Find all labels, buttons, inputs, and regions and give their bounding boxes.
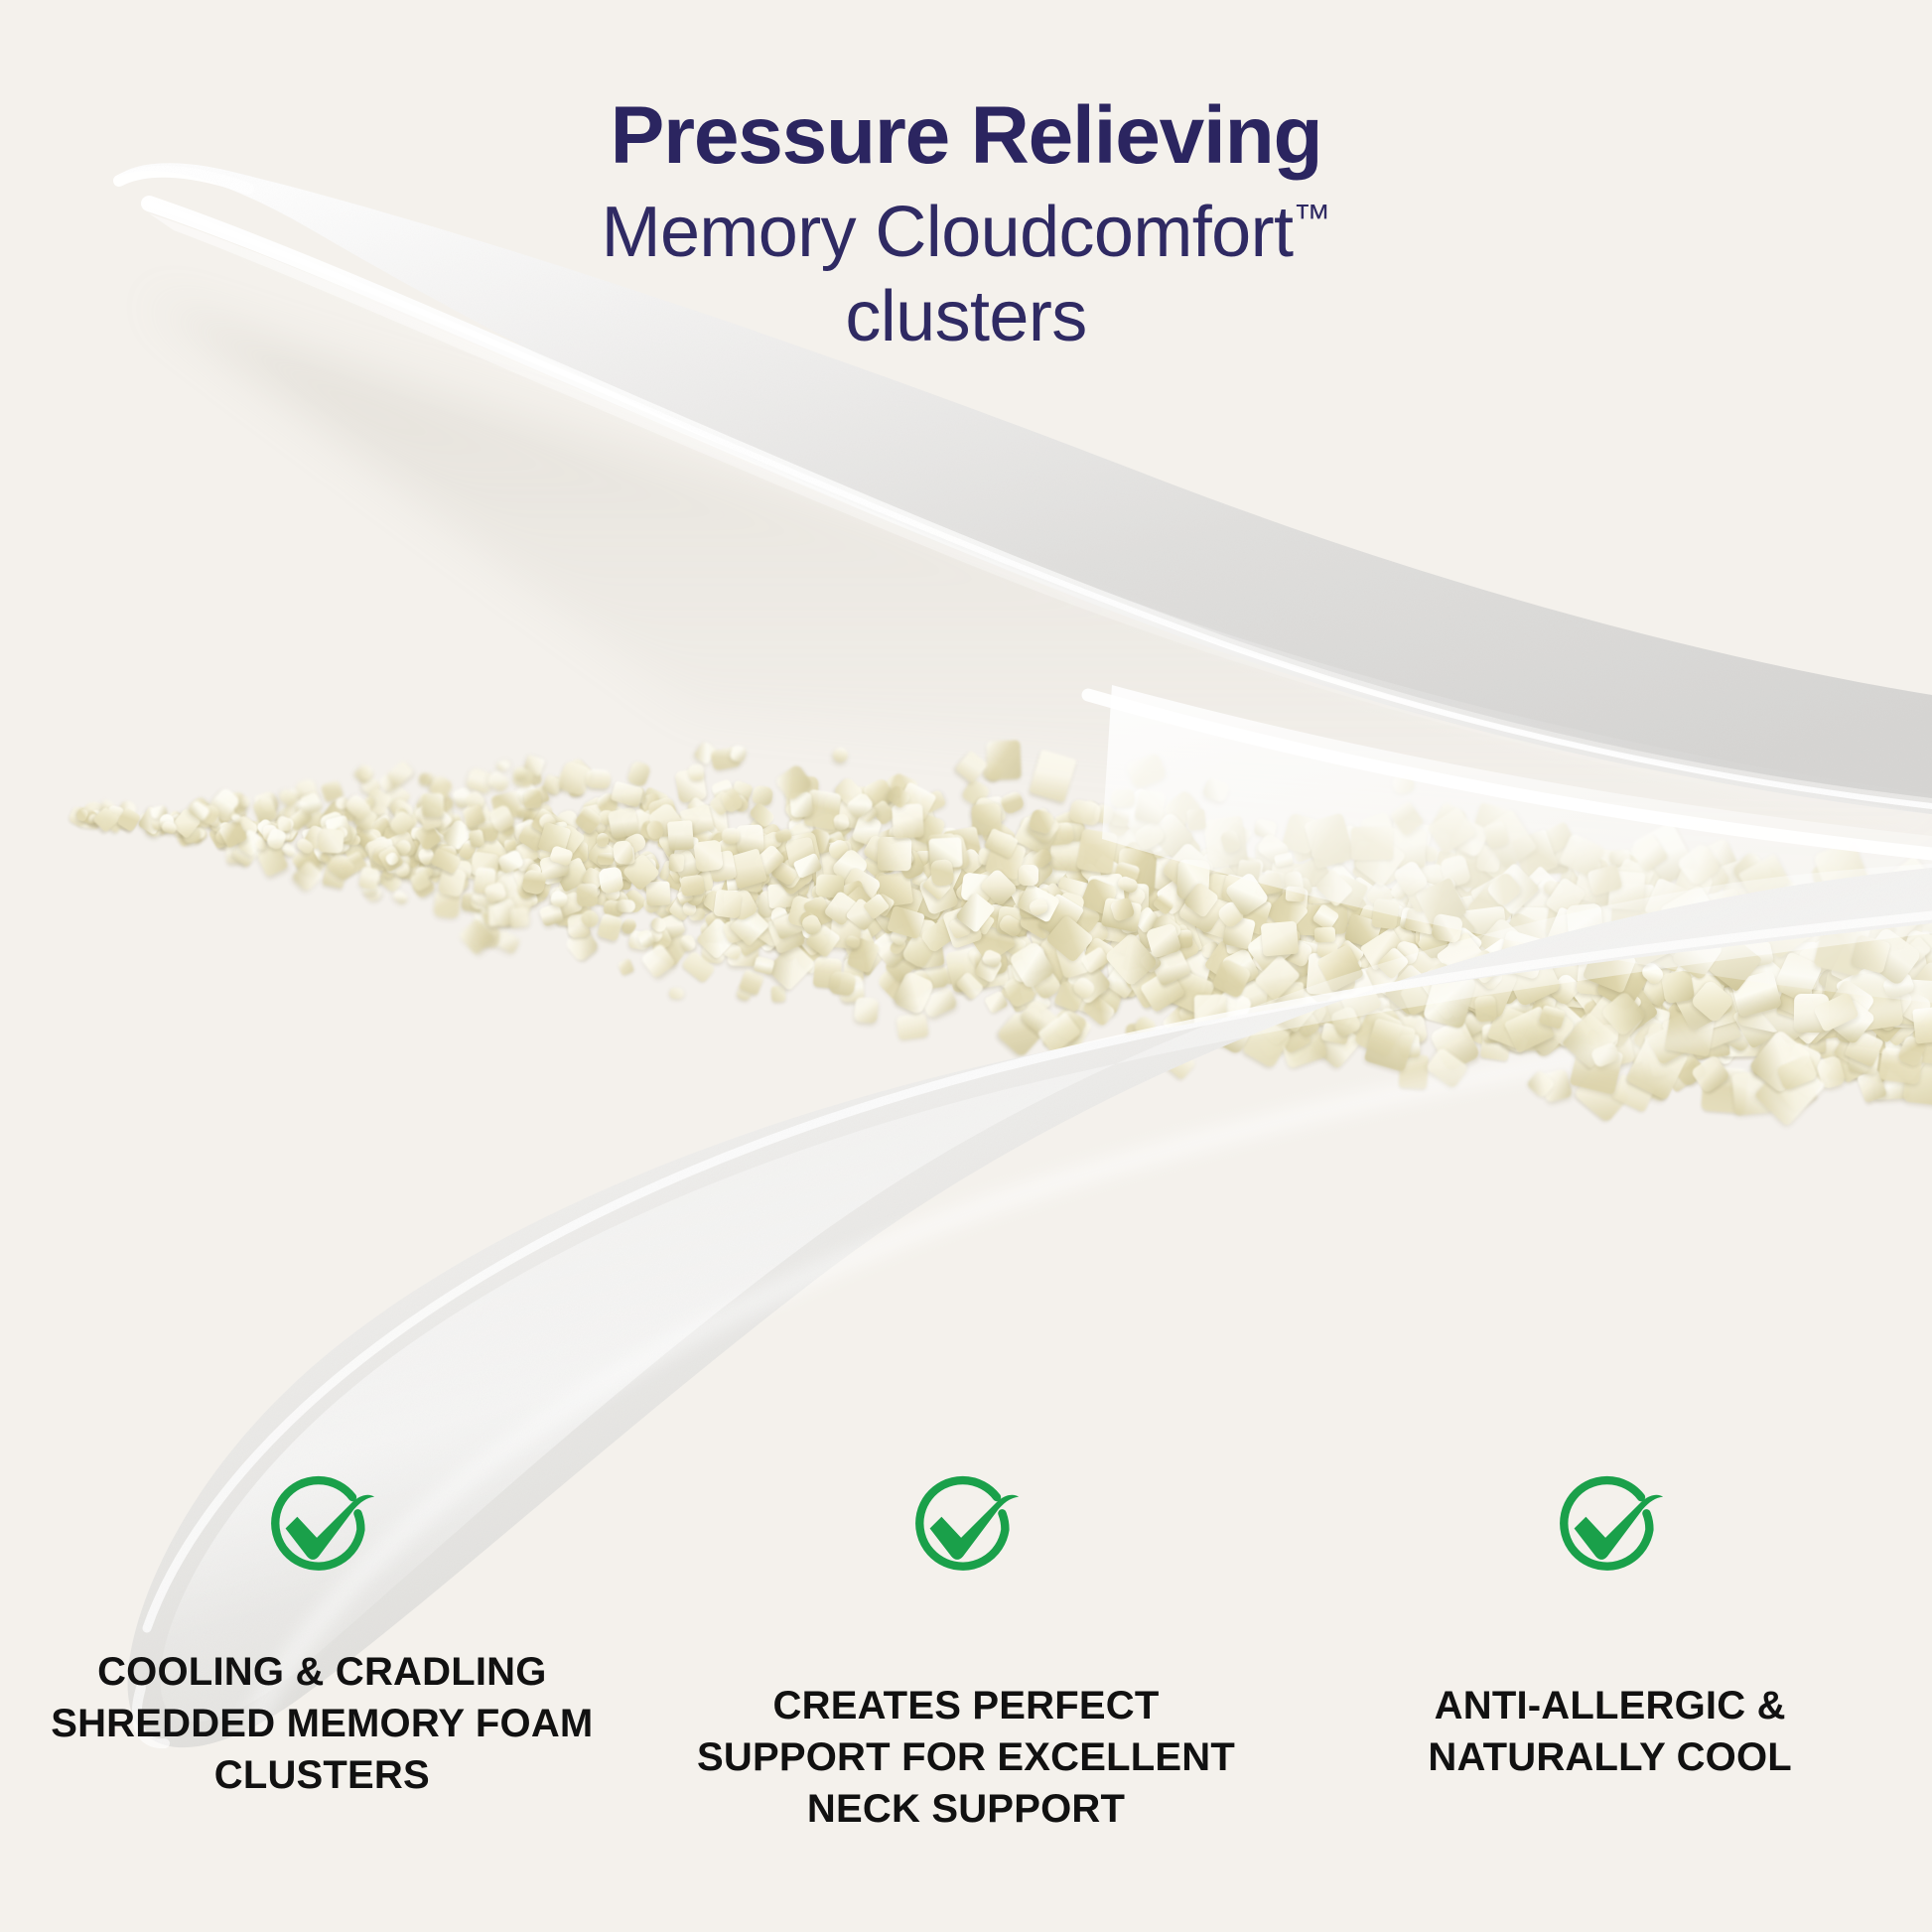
product-feature-graphic: Pressure Relieving Memory Cloudcomfort™ … bbox=[0, 0, 1932, 1932]
check-circle-icon bbox=[259, 1469, 384, 1594]
check-circle-icon bbox=[1548, 1469, 1673, 1594]
check-circle-icon bbox=[903, 1469, 1029, 1594]
feature-item-anti-allergic: ANTI-ALLERGIC & NATURALLY COOL bbox=[1288, 1469, 1932, 1835]
feature-item-cooling-cradling: COOLING & CRADLING SHREDDED MEMORY FOAM … bbox=[0, 1469, 644, 1835]
feature-label: COOLING & CRADLING SHREDDED MEMORY FOAM … bbox=[51, 1646, 593, 1801]
feature-item-neck-support: CREATES PERFECT SUPPORT FOR EXCELLENT NE… bbox=[644, 1469, 1289, 1835]
feature-label: CREATES PERFECT SUPPORT FOR EXCELLENT NE… bbox=[697, 1680, 1235, 1835]
feature-label: ANTI-ALLERGIC & NATURALLY COOL bbox=[1428, 1680, 1792, 1783]
feature-list: COOLING & CRADLING SHREDDED MEMORY FOAM … bbox=[0, 1469, 1932, 1835]
